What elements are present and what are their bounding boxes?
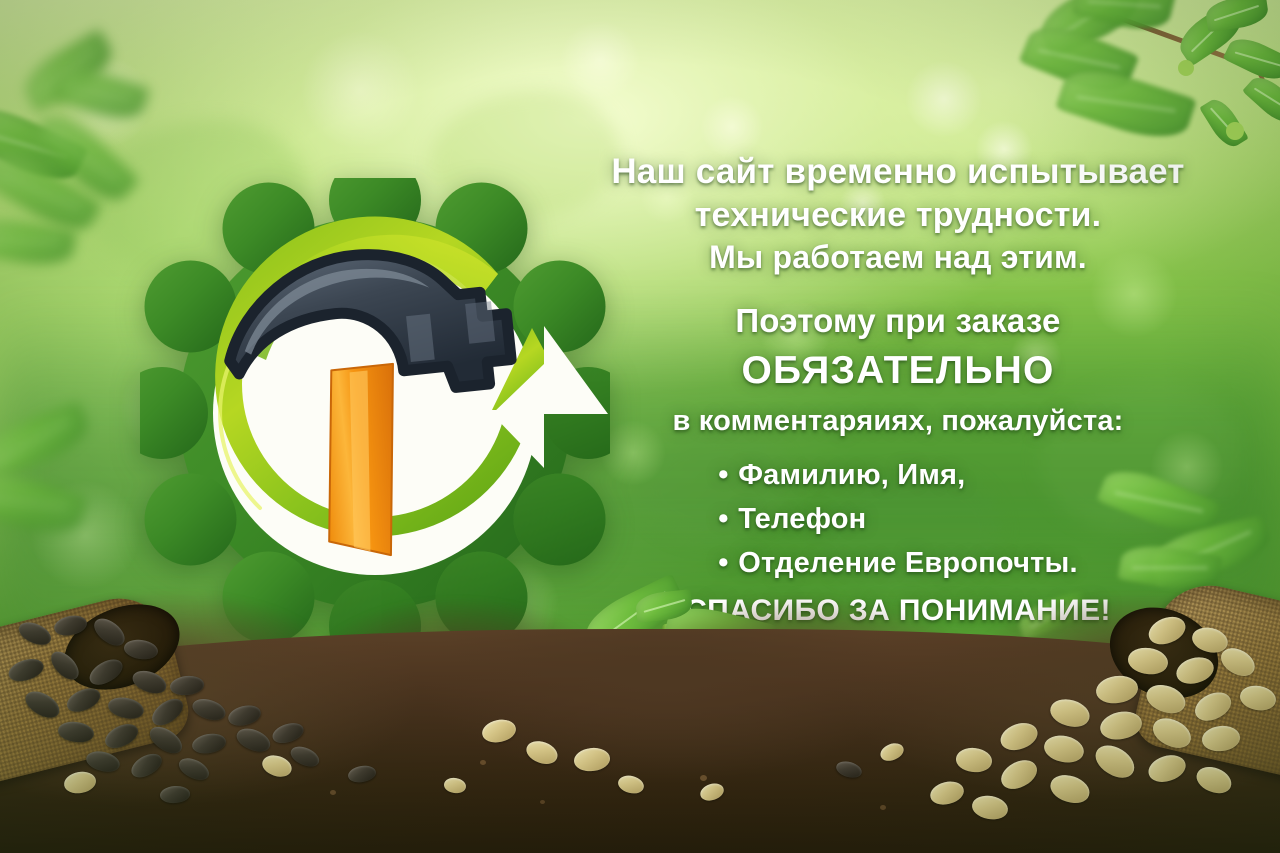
vignette-overlay	[0, 0, 1280, 853]
announcement-banner: Наш сайт временно испытывает технические…	[0, 0, 1280, 853]
